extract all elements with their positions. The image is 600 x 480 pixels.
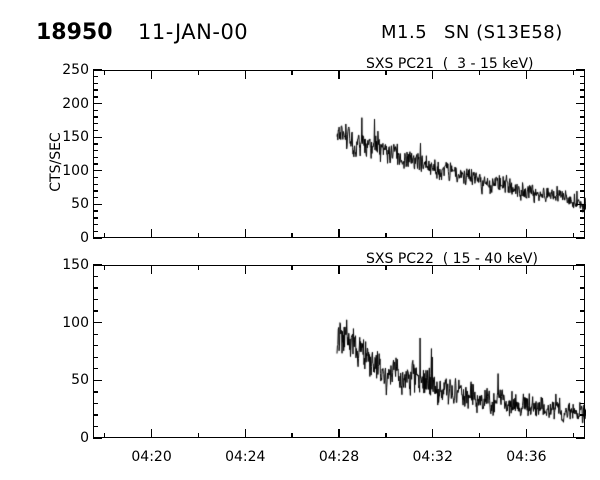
- y-tick-mark: [576, 380, 585, 381]
- x-tick-mark: [573, 233, 574, 238]
- y-tick-mark: [580, 299, 585, 300]
- x-tick-label: 04:32: [413, 449, 453, 465]
- y-tick-label: 0: [80, 230, 89, 246]
- x-tick-mark: [104, 433, 105, 438]
- x-tick-mark: [526, 70, 527, 79]
- y-tick-mark: [93, 184, 98, 185]
- y-tick-mark: [580, 414, 585, 415]
- x-tick-mark: [245, 70, 246, 79]
- y-tick-mark: [93, 426, 98, 427]
- y-tick-mark: [93, 322, 102, 323]
- y-tick-label: 150: [62, 129, 89, 145]
- y-tick-mark: [93, 276, 98, 277]
- y-tick-mark: [576, 322, 585, 323]
- x-tick-mark: [151, 265, 152, 274]
- y-tick-mark: [93, 437, 102, 438]
- x-tick-mark: [526, 229, 527, 238]
- y-tick-mark: [580, 89, 585, 90]
- y-tick-mark: [93, 170, 102, 171]
- x-tick-mark: [385, 233, 386, 238]
- x-tick-mark: [338, 429, 339, 438]
- x-tick-mark: [432, 429, 433, 438]
- y-tick-mark: [580, 426, 585, 427]
- x-tick-mark: [338, 70, 339, 79]
- y-tick-mark: [93, 204, 102, 205]
- y-tick-mark: [576, 170, 585, 171]
- y-tick-mark: [576, 264, 585, 265]
- y-tick-label: 50: [71, 196, 89, 212]
- x-tick-label: 04:20: [131, 449, 171, 465]
- y-tick-mark: [580, 123, 585, 124]
- y-tick-mark: [93, 110, 98, 111]
- y-tick-mark: [580, 334, 585, 335]
- y-tick-label: 100: [62, 163, 89, 179]
- y-tick-mark: [580, 403, 585, 404]
- x-tick-mark: [198, 233, 199, 238]
- y-tick-mark: [576, 204, 585, 205]
- y-tick-mark: [580, 116, 585, 117]
- y-tick-mark: [580, 157, 585, 158]
- y-tick-mark: [580, 217, 585, 218]
- y-tick-mark: [93, 345, 98, 346]
- y-tick-mark: [93, 163, 98, 164]
- y-tick-mark: [93, 334, 98, 335]
- y-tick-mark: [93, 130, 98, 131]
- y-tick-mark: [580, 190, 585, 191]
- x-tick-mark: [151, 229, 152, 238]
- y-tick-mark: [580, 76, 585, 77]
- x-tick-mark: [291, 265, 292, 270]
- x-tick-mark: [198, 70, 199, 75]
- observation-date: 11-JAN-00: [138, 20, 248, 44]
- y-tick-mark: [93, 403, 98, 404]
- y-tick-mark: [93, 197, 98, 198]
- y-tick-mark: [93, 69, 102, 70]
- y-tick-mark: [576, 103, 585, 104]
- y-tick-label: 0: [80, 430, 89, 446]
- y-axis-ticks-pc21: 050100150200250: [41, 70, 89, 238]
- y-tick-mark: [93, 368, 98, 369]
- flare-lightcurve-plot: 18950 11-JAN-00 M1.5 SN (S13E58) SXS PC2…: [0, 0, 600, 480]
- y-tick-mark: [93, 414, 98, 415]
- y-tick-mark: [93, 137, 102, 138]
- y-tick-mark: [580, 231, 585, 232]
- y-tick-label: 250: [62, 62, 89, 78]
- x-tick-mark: [573, 433, 574, 438]
- y-tick-mark: [93, 190, 98, 191]
- y-tick-mark: [576, 237, 585, 238]
- y-tick-mark: [93, 310, 98, 311]
- x-tick-mark: [151, 70, 152, 79]
- x-tick-mark: [291, 233, 292, 238]
- y-tick-mark: [93, 224, 98, 225]
- y-tick-mark: [580, 110, 585, 111]
- x-tick-mark: [198, 265, 199, 270]
- y-tick-mark: [93, 231, 98, 232]
- y-tick-label: 50: [71, 372, 89, 388]
- x-tick-mark: [104, 233, 105, 238]
- x-tick-mark: [245, 265, 246, 274]
- x-tick-mark: [432, 70, 433, 79]
- x-tick-mark: [338, 265, 339, 274]
- y-tick-mark: [580, 210, 585, 211]
- y-tick-mark: [93, 264, 102, 265]
- y-tick-mark: [580, 224, 585, 225]
- lightcurve-trace-pc21: [94, 71, 586, 239]
- y-tick-mark: [93, 380, 102, 381]
- y-tick-mark: [93, 143, 98, 144]
- x-tick-mark: [385, 265, 386, 270]
- y-tick-mark: [93, 177, 98, 178]
- x-tick-mark: [291, 433, 292, 438]
- y-axis-ticks-pc22: 050100150: [41, 265, 89, 438]
- x-tick-label: 04:24: [225, 449, 265, 465]
- y-tick-mark: [580, 163, 585, 164]
- y-tick-label: 100: [62, 315, 89, 331]
- x-tick-mark: [479, 265, 480, 270]
- y-tick-mark: [580, 83, 585, 84]
- event-number: 18950: [36, 20, 113, 45]
- x-tick-mark: [291, 70, 292, 75]
- y-tick-mark: [93, 210, 98, 211]
- y-tick-mark: [580, 184, 585, 185]
- x-tick-mark: [479, 70, 480, 75]
- x-tick-mark: [573, 265, 574, 270]
- y-tick-mark: [93, 217, 98, 218]
- y-tick-mark: [580, 150, 585, 151]
- x-tick-mark: [104, 70, 105, 75]
- active-region: SN (S13E58): [444, 22, 563, 43]
- y-tick-mark: [93, 96, 98, 97]
- x-tick-mark: [432, 265, 433, 274]
- y-tick-mark: [93, 357, 98, 358]
- y-tick-mark: [93, 103, 102, 104]
- x-tick-mark: [151, 429, 152, 438]
- y-tick-mark: [580, 130, 585, 131]
- y-tick-mark: [93, 116, 98, 117]
- y-tick-mark: [580, 357, 585, 358]
- y-tick-mark: [576, 69, 585, 70]
- plot-frame-pc22: [93, 265, 585, 438]
- x-tick-mark: [245, 229, 246, 238]
- y-tick-mark: [580, 276, 585, 277]
- y-tick-mark: [93, 299, 98, 300]
- lightcurve-trace-pc22: [94, 266, 586, 439]
- y-tick-mark: [576, 137, 585, 138]
- x-tick-mark: [385, 70, 386, 75]
- x-tick-mark: [573, 70, 574, 75]
- y-tick-mark: [580, 177, 585, 178]
- x-tick-mark: [526, 265, 527, 274]
- x-tick-mark: [432, 229, 433, 238]
- x-tick-mark: [245, 429, 246, 438]
- y-tick-mark: [93, 287, 98, 288]
- y-tick-mark: [580, 391, 585, 392]
- y-tick-mark: [580, 143, 585, 144]
- y-tick-mark: [93, 157, 98, 158]
- x-tick-mark: [479, 233, 480, 238]
- y-tick-mark: [580, 310, 585, 311]
- y-tick-label: 200: [62, 96, 89, 112]
- x-tick-label: 04:36: [506, 449, 546, 465]
- x-tick-mark: [526, 429, 527, 438]
- y-tick-mark: [580, 287, 585, 288]
- y-tick-mark: [93, 123, 98, 124]
- y-tick-mark: [580, 197, 585, 198]
- plot-frame-pc21: [93, 70, 585, 238]
- y-tick-mark: [576, 437, 585, 438]
- x-tick-mark: [198, 433, 199, 438]
- y-tick-label: 150: [62, 257, 89, 273]
- y-tick-mark: [580, 345, 585, 346]
- x-tick-mark: [104, 265, 105, 270]
- y-tick-mark: [580, 96, 585, 97]
- y-tick-mark: [93, 89, 98, 90]
- goes-class: M1.5: [381, 22, 427, 43]
- y-tick-mark: [580, 368, 585, 369]
- y-tick-mark: [93, 237, 102, 238]
- x-tick-mark: [385, 433, 386, 438]
- x-tick-mark: [479, 433, 480, 438]
- y-tick-mark: [93, 76, 98, 77]
- y-tick-mark: [93, 150, 98, 151]
- x-tick-mark: [338, 229, 339, 238]
- y-tick-mark: [93, 83, 98, 84]
- x-tick-label: 04:28: [319, 449, 359, 465]
- y-tick-mark: [93, 391, 98, 392]
